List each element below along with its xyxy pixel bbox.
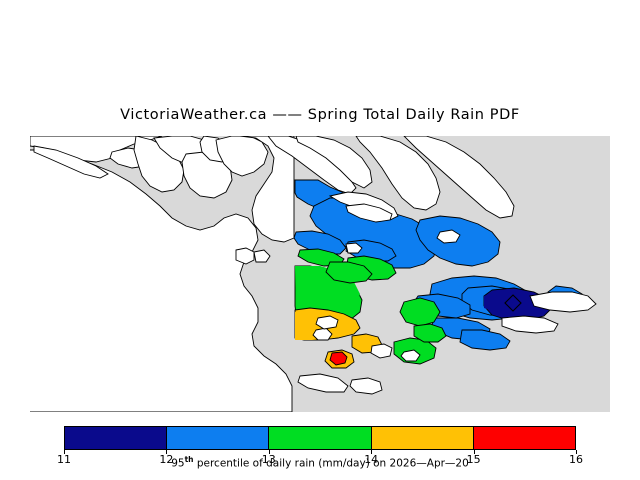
- caption-percentile-suffix: th: [185, 455, 194, 464]
- land-far-right-tail-2: [502, 316, 558, 333]
- colorbar-segment-0[interactable]: [65, 427, 167, 449]
- land-islet-lower-2: [298, 374, 348, 392]
- caption-percentile-number: 95: [171, 458, 184, 470]
- weather-map-page: VictoriaWeather.ca —— Spring Total Daily…: [0, 0, 640, 480]
- colorbar-segment-3[interactable]: [372, 427, 474, 449]
- caption-description: percentile of daily rain (mm/day) on 202…: [194, 458, 469, 470]
- land-islet-lower-4: [371, 344, 392, 358]
- filled-regions-group: [294, 180, 582, 368]
- colorbar-caption: 95th percentile of daily rain (mm/day) o…: [0, 455, 640, 470]
- map-vector-layer: [30, 136, 610, 412]
- colorbar-segment-4[interactable]: [474, 427, 575, 449]
- land-islet-lower-3: [350, 378, 382, 394]
- region-green-se-patch: [400, 298, 440, 326]
- colorbar-swatches[interactable]: [64, 426, 576, 450]
- page-title: VictoriaWeather.ca —— Spring Total Daily…: [0, 107, 640, 123]
- region-blue-se-strip-3: [460, 330, 510, 350]
- colorbar-segment-1[interactable]: [167, 427, 269, 449]
- map-canvas[interactable]: [30, 136, 610, 412]
- colorbar-segment-2[interactable]: [269, 427, 371, 449]
- colorbar-legend: 11 12 13 14 15 16: [0, 420, 640, 480]
- land-small-island-b: [254, 250, 270, 262]
